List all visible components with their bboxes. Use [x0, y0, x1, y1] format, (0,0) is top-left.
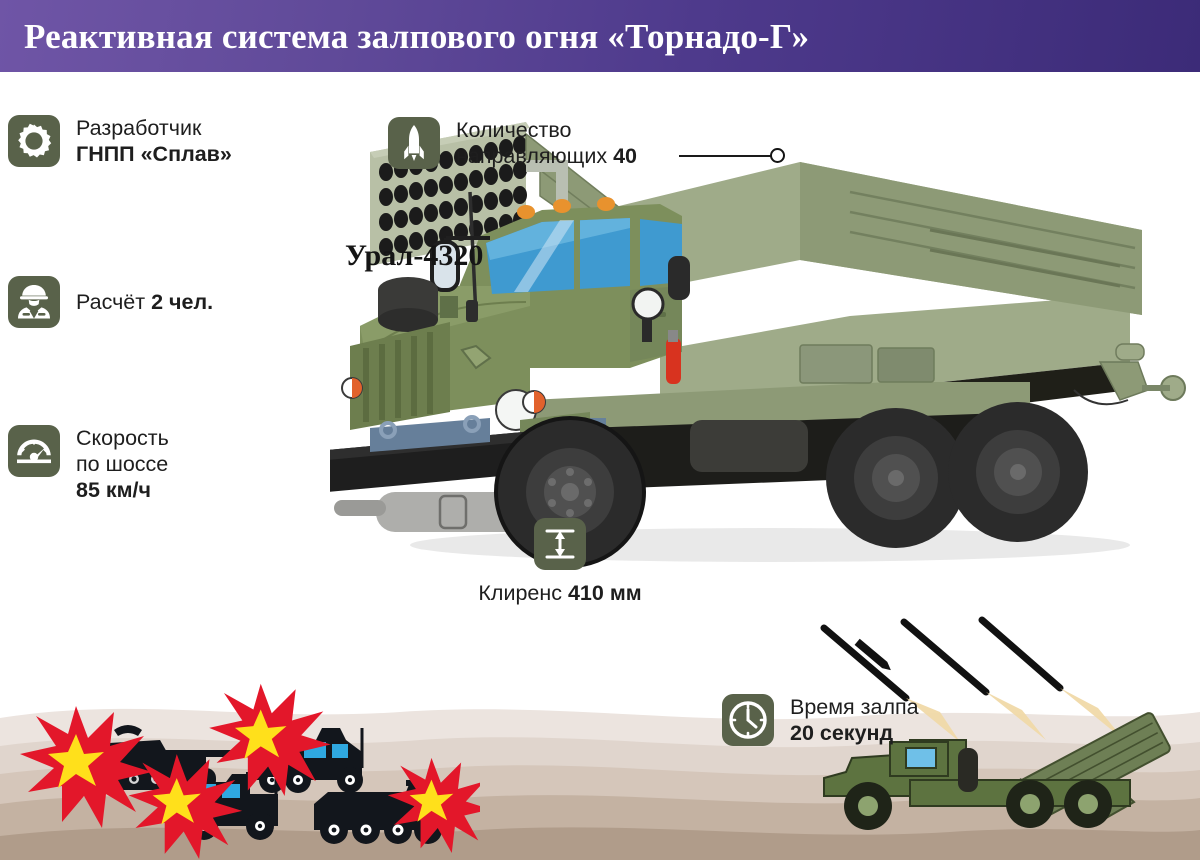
fact-developer-text: Разработчик ГНПП «Сплав»	[76, 115, 232, 167]
fact-crew-label: Расчёт	[76, 290, 151, 314]
fact-tube-count-text: Количество направляющих 40	[456, 117, 637, 169]
fact-clearance: Клиренс 410 мм	[440, 518, 680, 606]
tube-count-leader-dot	[770, 148, 785, 163]
target-vehicles-scene	[10, 668, 480, 860]
infographic-canvas: Реактивная система залпового огня «Торна…	[0, 0, 1200, 860]
fact-tube-count-value: 40	[613, 144, 637, 168]
fact-crew-value: 2 чел.	[151, 290, 213, 314]
clock-icon	[722, 694, 774, 746]
fact-crew-text: Расчёт 2 чел.	[76, 276, 213, 328]
fact-developer-label: Разработчик	[76, 115, 232, 141]
page-title: Реактивная система залпового огня «Торна…	[24, 17, 809, 57]
fact-salvo-time: Время залпа 20 секунд	[722, 694, 919, 746]
fact-salvo-time-value: 20 секунд	[790, 720, 919, 746]
fact-tube-count-label-1: Количество	[456, 117, 637, 143]
tube-count-leader-line	[679, 155, 775, 157]
fact-speed-label-1: Скорость	[76, 425, 169, 451]
fact-speed: Скорость по шоссе 85 км/ч	[8, 425, 169, 503]
fact-clearance-value: 410 мм	[568, 581, 642, 605]
fact-speed-text: Скорость по шоссе 85 км/ч	[76, 425, 169, 503]
fact-crew: Расчёт 2 чел.	[8, 276, 213, 328]
speedometer-icon	[8, 425, 60, 477]
crew-helmet-icon	[8, 276, 60, 328]
fact-developer: Разработчик ГНПП «Сплав»	[8, 115, 232, 167]
header-bar: Реактивная система залпового огня «Торна…	[0, 0, 1200, 72]
gear-icon	[8, 115, 60, 167]
height-arrow-icon	[534, 518, 586, 570]
fact-speed-value: 85 км/ч	[76, 477, 169, 503]
tornado-g-vehicle-illustration	[330, 100, 1190, 580]
fact-tube-count: Количество направляющих 40	[388, 117, 637, 169]
explosion-burst	[20, 706, 152, 828]
fact-salvo-time-label: Время залпа	[790, 694, 919, 720]
fact-salvo-time-text: Время залпа 20 секунд	[790, 694, 919, 746]
rocket-icon	[388, 117, 440, 169]
truck-model-label: Урал-4320	[345, 239, 483, 273]
fact-speed-label-2: по шоссе	[76, 451, 169, 477]
fact-tube-count-label-2: направляющих 40	[456, 143, 637, 169]
fact-clearance-text: Клиренс 410 мм	[440, 581, 680, 606]
fact-developer-value: ГНПП «Сплав»	[76, 141, 232, 167]
